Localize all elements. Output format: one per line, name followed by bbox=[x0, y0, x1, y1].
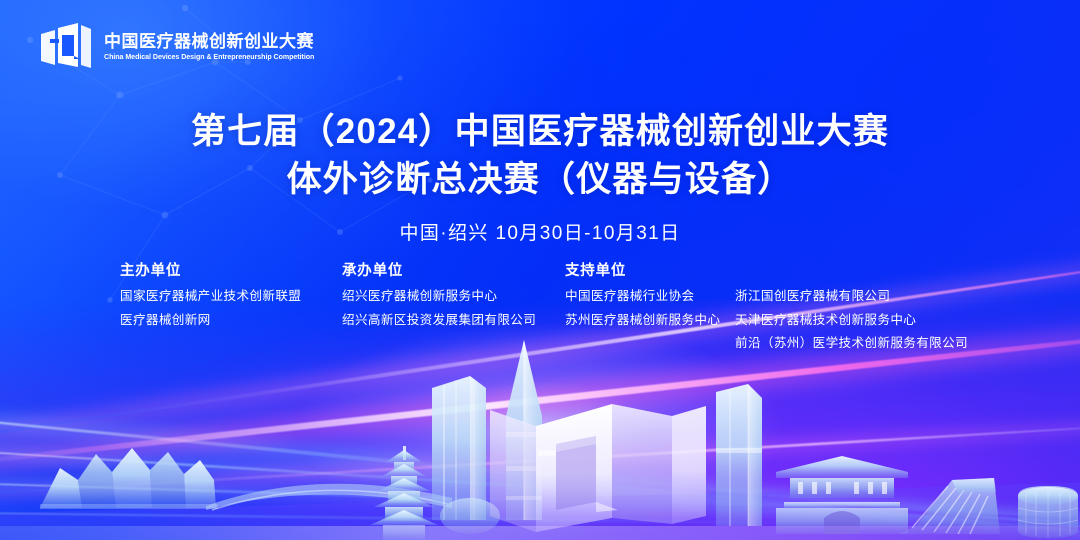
central-logo-monument bbox=[490, 404, 706, 532]
twin-tower bbox=[716, 384, 762, 526]
opera-house-building bbox=[40, 448, 218, 509]
organizer-item: 天津医疗器械技术创新服务中心 bbox=[735, 314, 968, 327]
organizer-item: 绍兴高新区投资发展集团有限公司 bbox=[342, 314, 536, 327]
organizer-item: 绍兴医疗器械创新服务中心 bbox=[342, 290, 536, 303]
conference-banner: 中国医疗器械创新创业大赛 China Medical Devices Desig… bbox=[0, 0, 1080, 540]
organizer-header-supporter: 支持单位 bbox=[565, 264, 720, 279]
organizer-item: 国家医疗器械产业技术创新联盟 bbox=[120, 290, 301, 303]
stepped-terrace-building bbox=[898, 478, 1000, 534]
open-book-door-logo-icon bbox=[38, 22, 94, 72]
logo-title-cn: 中国医疗器械创新创业大赛 bbox=[104, 33, 321, 51]
logo-title-en: China Medical Devices Design & Entrepren… bbox=[104, 53, 314, 61]
organizer-section: 主办单位 国家医疗器械产业技术创新联盟 医疗器械创新网 承办单位 绍兴医疗器械创… bbox=[120, 264, 1000, 364]
page-title: 第七届（2024）中国医疗器械创新创业大赛 体外诊断总决赛（仪器与设备） bbox=[0, 108, 1080, 203]
event-location-date: 中国·绍兴 10月30日-10月31日 bbox=[0, 218, 1080, 245]
organizer-item: 苏州医疗器械创新服务中心 bbox=[565, 314, 720, 327]
headline-line-1: 第七届（2024）中国医疗器械创新创业大赛 bbox=[0, 108, 1080, 156]
event-logo[interactable]: 中国医疗器械创新创业大赛 China Medical Devices Desig… bbox=[38, 22, 321, 72]
organizer-column-supporter-extra: 浙江国创医疗器械有限公司 天津医疗器械技术创新服务中心 前沿（苏州）医学技术创新… bbox=[735, 290, 968, 361]
organizer-item: 中国医疗器械行业协会 bbox=[565, 290, 720, 303]
headline-line-2: 体外诊断总决赛（仪器与设备） bbox=[0, 156, 1080, 204]
organizer-header-host: 主办单位 bbox=[120, 264, 301, 279]
organizer-column-supporter: 支持单位 中国医疗器械行业协会 苏州医疗器械创新服务中心 bbox=[565, 264, 720, 339]
organizer-item: 前沿（苏州）医学技术创新服务有限公司 bbox=[735, 337, 968, 350]
organizer-item: 医疗器械创新网 bbox=[120, 314, 301, 327]
chinese-gate-tower bbox=[776, 456, 908, 534]
organizer-item: 浙江国创医疗器械有限公司 bbox=[735, 290, 968, 303]
glass-skyscraper bbox=[432, 376, 500, 534]
organizer-header-organizer: 承办单位 bbox=[342, 264, 536, 279]
organizer-column-host: 主办单位 国家医疗器械产业技术创新联盟 医疗器械创新网 bbox=[120, 264, 301, 339]
organizer-column-organizer: 承办单位 绍兴医疗器械创新服务中心 绍兴高新区投资发展集团有限公司 bbox=[342, 264, 536, 339]
